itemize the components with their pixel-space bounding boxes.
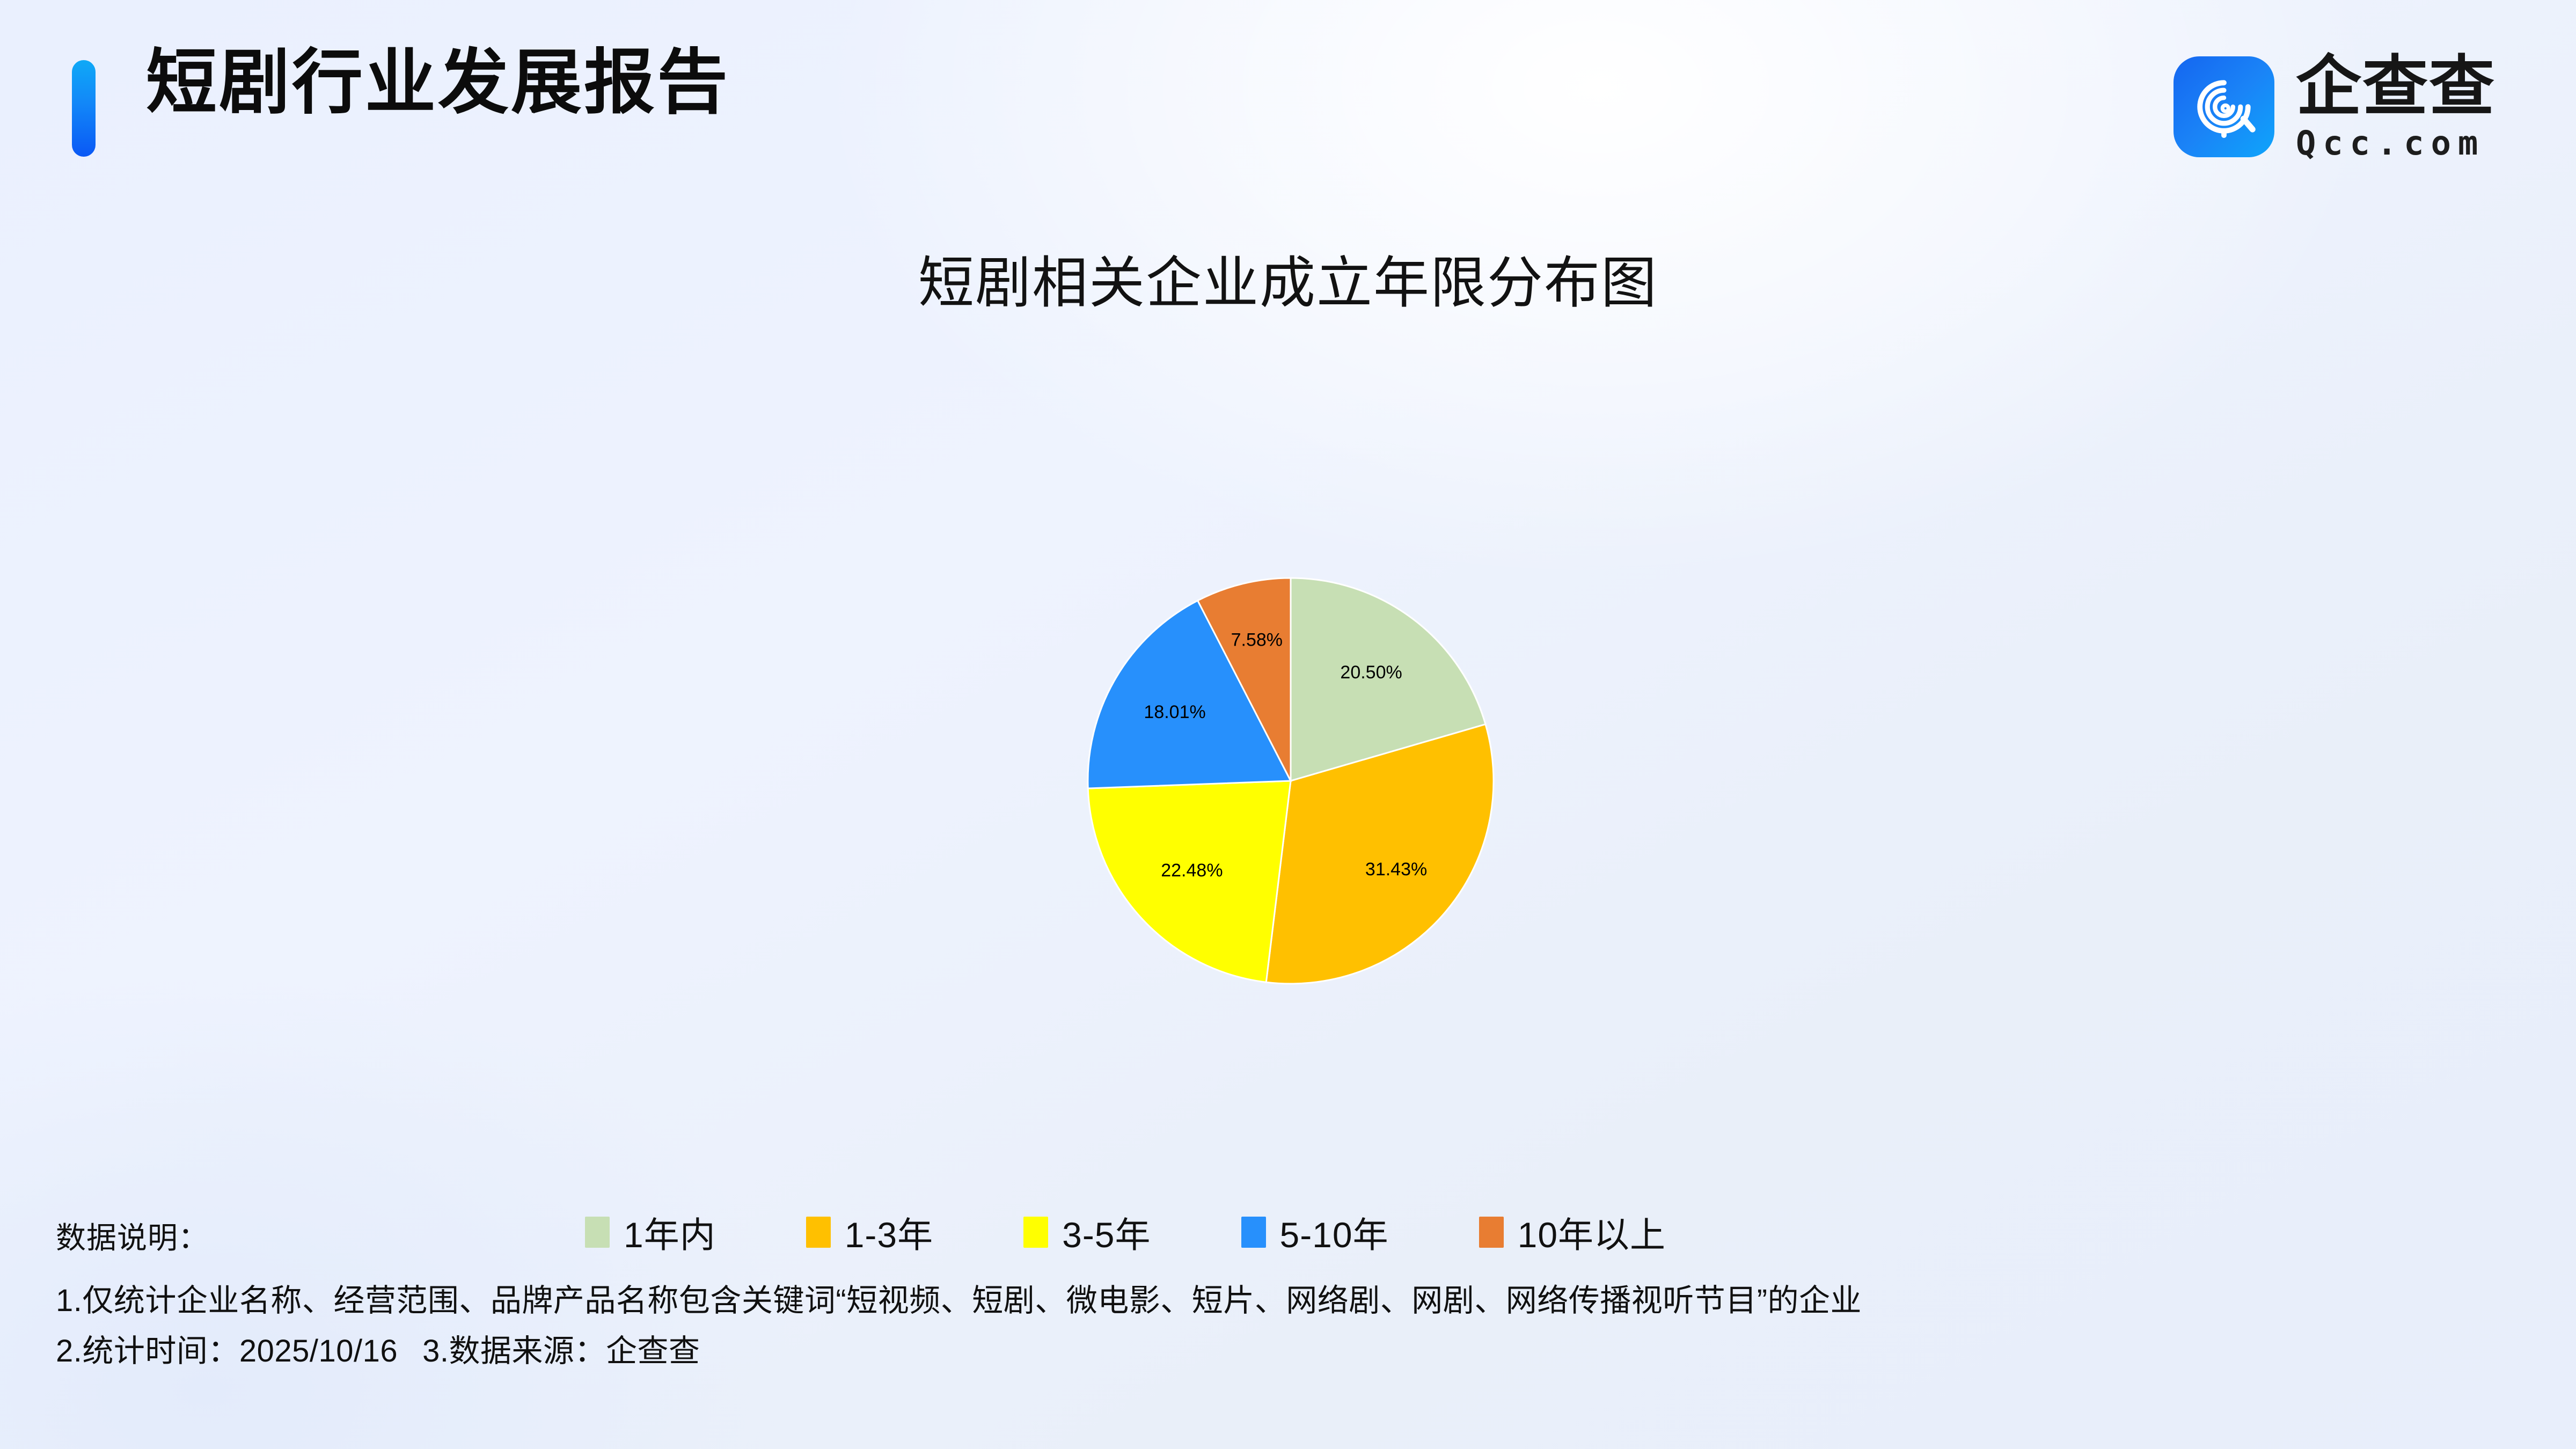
brand-logo: 企查查 Qcc.com: [2173, 54, 2495, 160]
pie-slices: [1088, 578, 1494, 984]
data-notes: 数据说明： 1.仅统计企业名称、经营范围、品牌产品名称包含关键词“短视频、短剧、…: [56, 1214, 2524, 1377]
note-stat-time: 2.统计时间：2025/10/16: [56, 1334, 398, 1368]
brand-text: 企查查 Qcc.com: [2296, 54, 2495, 160]
pie-chart-svg: 20.50%31.43%22.48%18.01%7.58%: [1087, 577, 1495, 985]
header: 短剧行业发展报告 企查查 Qcc.com: [0, 0, 2576, 231]
notes-heading: 数据说明：: [56, 1214, 2524, 1257]
page-title: 短剧行业发展报告: [146, 47, 730, 118]
brand-name-cn: 企查查: [2296, 54, 2495, 119]
note-line-1: 1.仅统计企业名称、经营范围、品牌产品名称包含关键词“短视频、短剧、微电影、短片…: [56, 1276, 2524, 1326]
report-canvas: 短剧行业发展报告 企查查 Qcc.com: [0, 0, 2576, 1449]
title-accent-bar: [72, 60, 96, 157]
brand-name-en: Qcc.com: [2296, 127, 2495, 160]
pie-slice-label: 22.48%: [1161, 860, 1223, 881]
note-data-source: 3.数据来源：企查查: [422, 1334, 700, 1368]
chart-title: 短剧相关企业成立年限分布图: [0, 237, 2576, 318]
pie-slice-label: 31.43%: [1365, 859, 1427, 880]
pie-slice-label: 18.01%: [1144, 702, 1205, 722]
pie-slice: [1088, 781, 1291, 982]
pie-slice-label: 7.58%: [1231, 630, 1283, 650]
qcc-spiral-logo-icon: [2173, 56, 2274, 157]
note-line-2: 2.统计时间：2025/10/163.数据来源：企查查: [56, 1326, 2524, 1377]
pie-chart: 20.50%31.43%22.48%18.01%7.58%: [1087, 577, 1495, 985]
pie-slice-label: 20.50%: [1340, 662, 1402, 683]
